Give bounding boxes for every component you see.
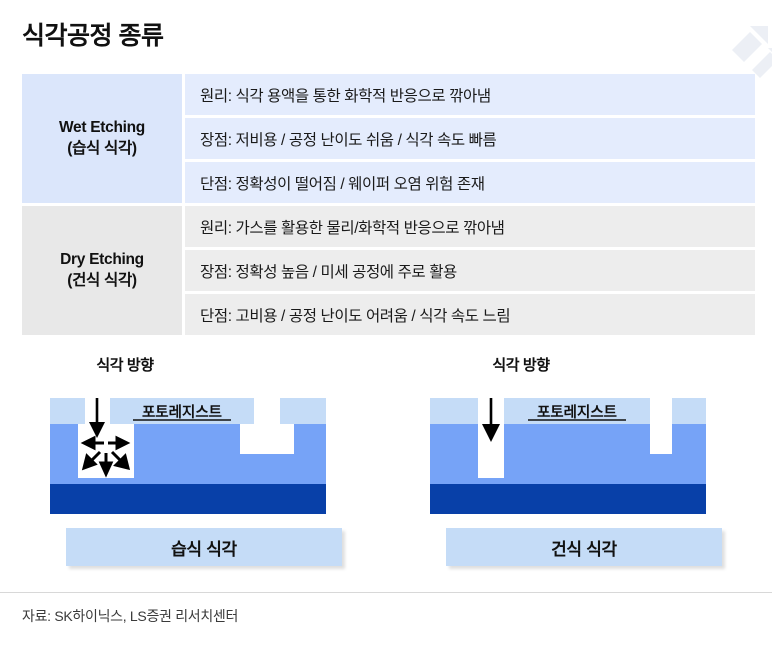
etching-comparison-table: Wet Etching (습식 식각) 원리: 식각 용액을 통한 화학적 반응… bbox=[22, 74, 755, 335]
footer-divider bbox=[0, 592, 772, 593]
substrate-layer bbox=[430, 484, 706, 514]
row-label-en: Wet Etching bbox=[59, 118, 145, 139]
table-row: 원리: 식각 용액을 통한 화학적 반응으로 깎아냄 bbox=[185, 74, 755, 115]
table-group-dry-etching: Dry Etching (건식 식각) 원리: 가스를 활용한 물리/화학적 반… bbox=[22, 206, 755, 335]
table-row: 장점: 저비용 / 공정 난이도 쉬움 / 식각 속도 빠름 bbox=[185, 118, 755, 159]
dry-etch-cross-section: 포토레지스트 bbox=[408, 398, 748, 524]
etch-cavity-isotropic bbox=[240, 424, 294, 454]
diagram-wet-etching: 식각 방향 포토레지스트 bbox=[28, 352, 368, 582]
table-row: 원리: 가스를 활용한 물리/화학적 반응으로 깎아냄 bbox=[185, 206, 755, 247]
table-rows-wet: 원리: 식각 용액을 통한 화학적 반응으로 깎아냄 장점: 저비용 / 공정 … bbox=[185, 74, 755, 203]
photoresist-layer bbox=[430, 398, 478, 424]
row-label-wet-etching: Wet Etching (습식 식각) bbox=[22, 74, 182, 203]
etch-direction-label: 식각 방향 bbox=[492, 354, 549, 375]
photoresist-label: 포토레지스트 bbox=[142, 404, 222, 421]
row-label-ko: (습식 식각) bbox=[59, 139, 145, 160]
table-rows-dry: 원리: 가스를 활용한 물리/화학적 반응으로 깎아냄 장점: 정확성 높음 /… bbox=[185, 206, 755, 335]
row-label-en: Dry Etching bbox=[60, 250, 144, 271]
source-note: 자료: SK하이닉스, LS증권 리서치센터 bbox=[22, 606, 238, 626]
mask-window bbox=[254, 398, 280, 424]
photoresist-label: 포토레지스트 bbox=[537, 404, 617, 421]
page-title: 식각공정 종류 bbox=[22, 16, 163, 52]
row-label-ko: (건식 식각) bbox=[60, 271, 144, 292]
diagram-caption-wet: 습식 식각 bbox=[66, 528, 342, 566]
diagram-caption-dry: 건식 식각 bbox=[446, 528, 722, 566]
photoresist-layer bbox=[50, 398, 85, 424]
wet-etch-cross-section: 포토레지스트 bbox=[28, 398, 368, 524]
diagram-dry-etching: 식각 방향 포토레지스트 건식 식각 bbox=[408, 352, 748, 582]
table-group-wet-etching: Wet Etching (습식 식각) 원리: 식각 용액을 통한 화학적 반응… bbox=[22, 74, 755, 203]
etch-direction-label: 식각 방향 bbox=[96, 354, 153, 375]
table-row: 단점: 정확성이 떨어짐 / 웨이퍼 오염 위험 존재 bbox=[185, 162, 755, 203]
row-label-dry-etching: Dry Etching (건식 식각) bbox=[22, 206, 182, 335]
etch-trench-anisotropic bbox=[650, 398, 672, 454]
substrate-layer bbox=[50, 484, 326, 514]
table-row: 단점: 고비용 / 공정 난이도 어려움 / 식각 속도 느림 bbox=[185, 294, 755, 335]
etching-diagrams: 식각 방향 포토레지스트 bbox=[0, 352, 772, 582]
table-row: 장점: 정확성 높음 / 미세 공정에 주로 활용 bbox=[185, 250, 755, 291]
photoresist-layer bbox=[672, 398, 706, 424]
photoresist-layer bbox=[280, 398, 326, 424]
